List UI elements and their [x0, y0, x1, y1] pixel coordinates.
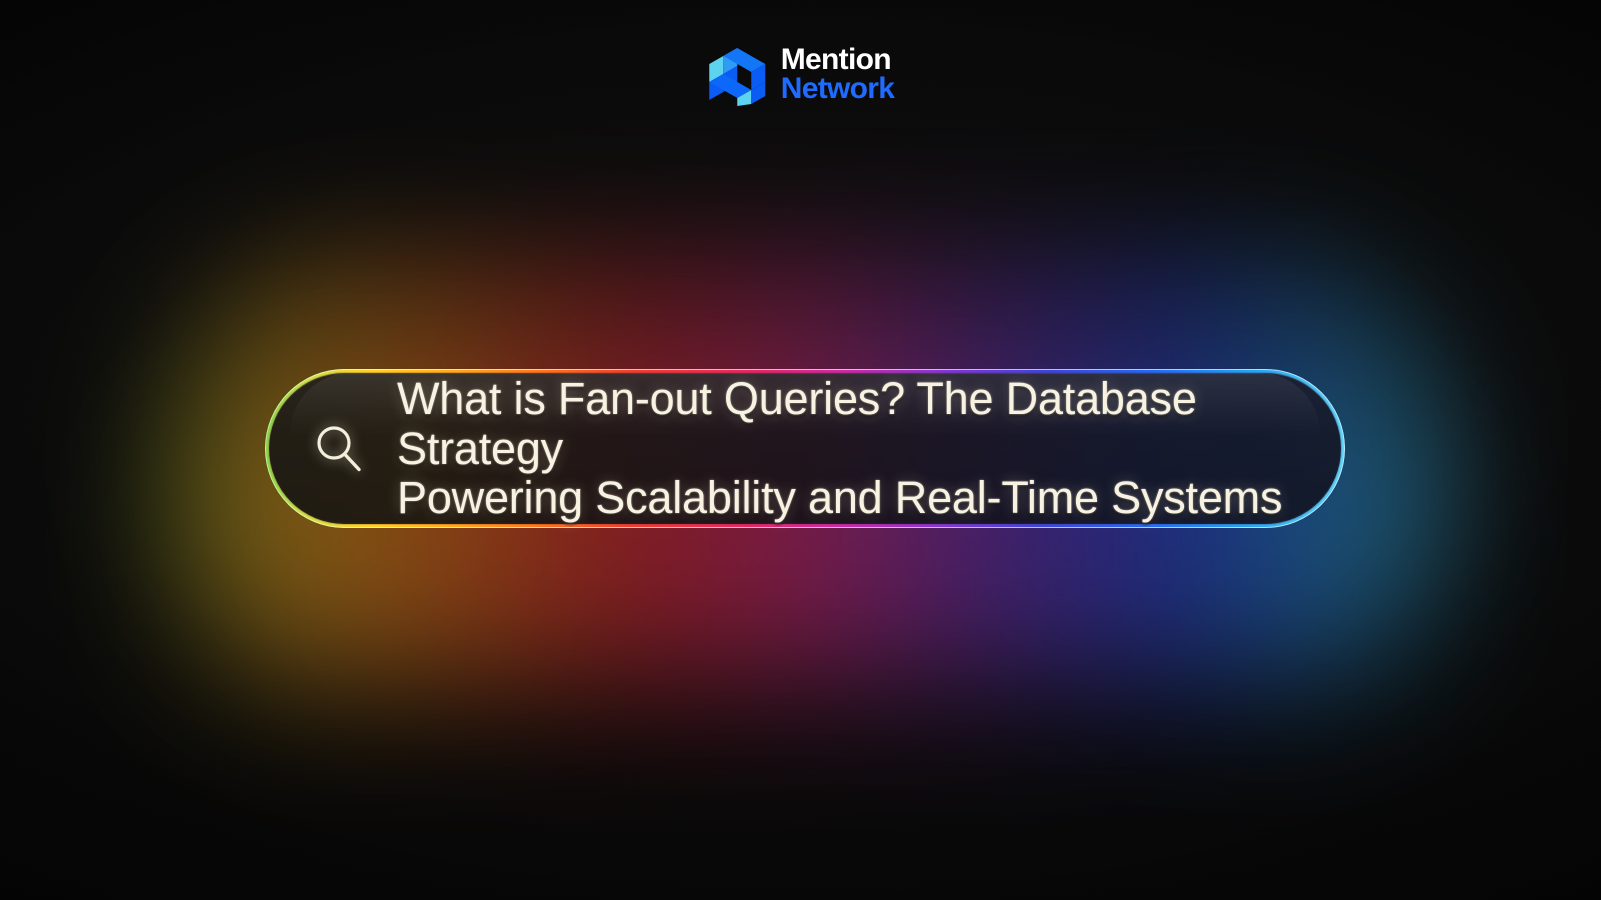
magnifier-icon[interactable] — [311, 421, 367, 477]
page-canvas: Mention Network What is Fan-out Queries?… — [0, 0, 1601, 900]
isometric-n-logo-icon — [707, 44, 767, 106]
search-query-text[interactable]: What is Fan-out Queries? The Database St… — [397, 374, 1307, 523]
brand-wordmark: Mention Network — [781, 46, 894, 104]
search-bar[interactable]: What is Fan-out Queries? The Database St… — [265, 369, 1345, 528]
brand-logo[interactable]: Mention Network — [707, 44, 894, 106]
search-bar-content: What is Fan-out Queries? The Database St… — [265, 369, 1345, 528]
brand-word-mention: Mention — [781, 46, 894, 75]
brand-word-network: Network — [781, 75, 894, 104]
